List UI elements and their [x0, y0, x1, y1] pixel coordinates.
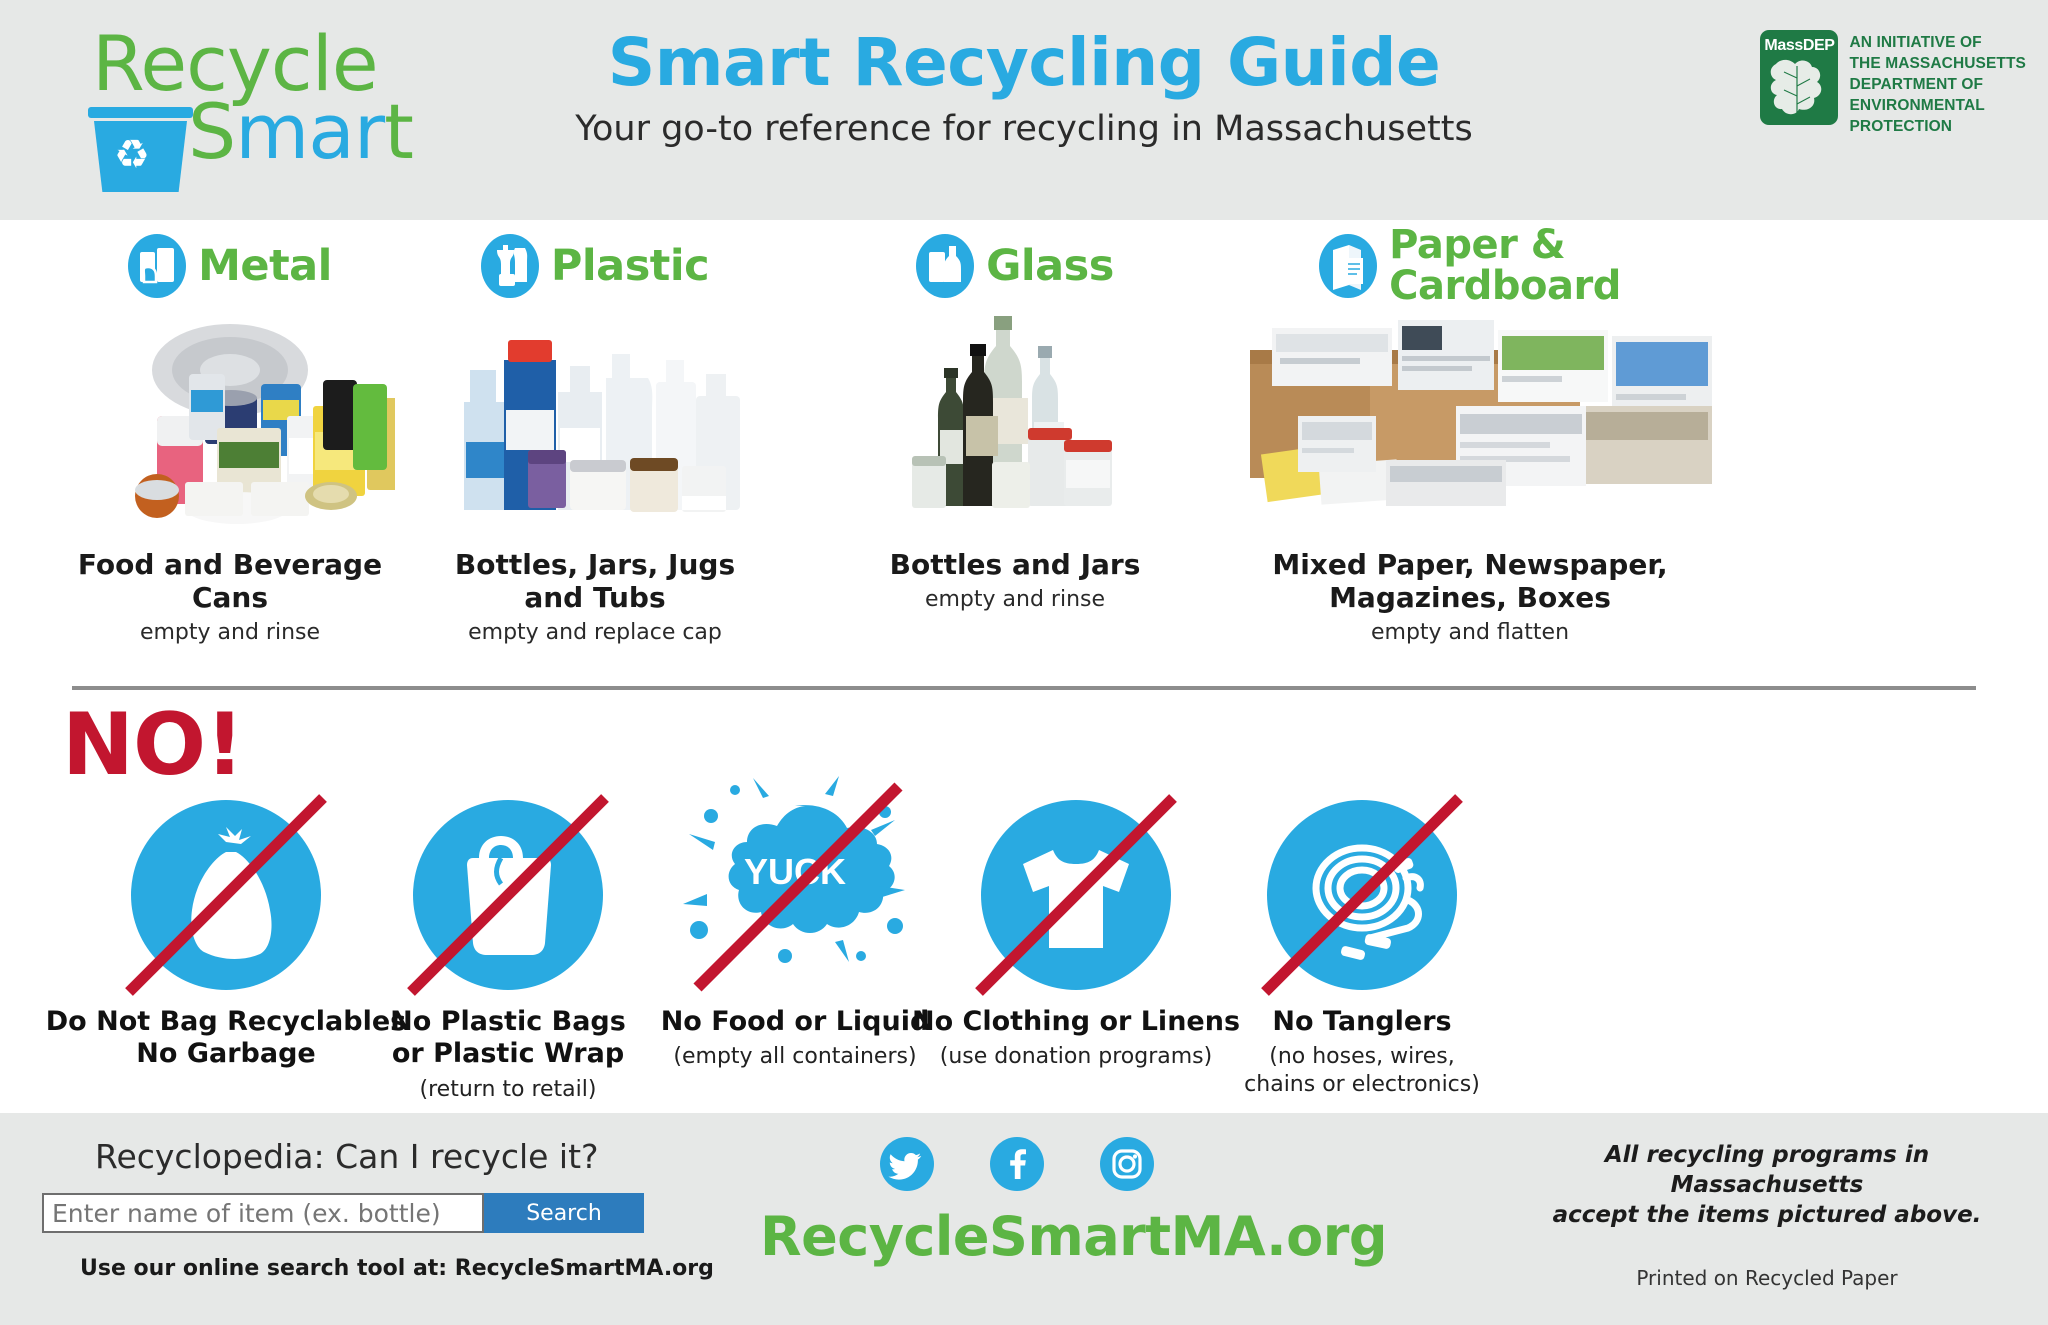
page-subtitle: Your go-to reference for recycling in Ma… — [0, 109, 2048, 149]
no-note-line1: (no hoses, wires, — [1162, 1043, 1562, 1071]
section-divider — [72, 686, 1976, 690]
printed-on-recycled-paper: Printed on Recycled Paper — [1552, 1266, 1982, 1290]
massdep-badge-text: MassDEP — [1760, 37, 1838, 55]
prohibited-items-row: Do Not Bag Recyclables No Garbage No Pla… — [0, 800, 2048, 1100]
category-plastic-note: empty and replace cap — [345, 620, 845, 645]
category-plastic-label: Plastic — [551, 245, 709, 288]
category-paper-note: empty and flatten — [1150, 620, 1790, 645]
category-paper: Paper & Cardboard — [1150, 228, 1790, 645]
plastic-bag-icon — [413, 800, 603, 990]
page-footer: Recyclopedia: Can I recycle it? Search U… — [0, 1113, 2048, 1325]
massdep-line-3: DEPARTMENT OF — [1849, 75, 2026, 96]
no-garbage-bag-icon-wrap — [131, 800, 321, 990]
no-plastic-bag-icon-wrap — [413, 800, 603, 990]
category-paper-label: Paper & Cardboard — [1389, 225, 1621, 307]
category-paper-label-line2: Cardboard — [1389, 266, 1621, 307]
no-title-line1: No Tanglers — [1162, 1006, 1562, 1038]
no-item-tanglers-note: (no hoses, wires, chains or electronics) — [1162, 1043, 1562, 1098]
category-paper-title-line1: Mixed Paper, Newspaper, — [1150, 548, 1790, 581]
coiled-hose-icon — [1267, 800, 1457, 990]
oak-leaf-icon — [1764, 56, 1834, 122]
twitter-icon[interactable] — [880, 1137, 934, 1191]
metal-can-icon — [128, 234, 186, 298]
massdep-line-5: PROTECTION — [1849, 117, 2026, 138]
category-paper-title: Mixed Paper, Newspaper, Magazines, Boxes — [1150, 548, 1790, 614]
category-glass-label: Glass — [986, 245, 1114, 288]
yuck-label: YUCK — [744, 851, 846, 892]
recyclopedia-search: Search — [42, 1193, 644, 1233]
massdep-line-1: AN INITIATIVE OF — [1849, 33, 2026, 54]
search-hint: Use our online search tool at: RecycleSm… — [80, 1256, 714, 1281]
no-item-tanglers: No Tanglers (no hoses, wires, chains or … — [1162, 800, 1562, 1098]
no-item-tanglers-title: No Tanglers — [1162, 1006, 1562, 1038]
category-paper-title-line2: Magazines, Boxes — [1150, 581, 1790, 614]
massdep-line-4: ENVIRONMENTAL — [1849, 96, 2026, 117]
recycling-guide-poster: Recycle ♻ Smart Smart Recycling Guide Yo… — [0, 0, 2048, 1325]
search-input[interactable] — [42, 1193, 484, 1233]
tshirt-icon — [981, 800, 1171, 990]
footer-right-block: All recycling programs in Massachusetts … — [1552, 1141, 1982, 1290]
footer-note: All recycling programs in Massachusetts … — [1552, 1141, 1982, 1231]
paper-carton-icon — [1319, 234, 1377, 298]
garbage-bag-icon — [131, 800, 321, 990]
massdep-text-block: AN INITIATIVE OF THE MASSACHUSETTS DEPAR… — [1849, 30, 2026, 138]
instagram-icon[interactable] — [1100, 1137, 1154, 1191]
paper-cardboard-photo — [1150, 310, 1790, 540]
website-url[interactable]: RecycleSmartMA.org — [760, 1205, 1360, 1268]
page-title: Smart Recycling Guide — [0, 28, 2048, 97]
massdep-badge: MassDEP — [1760, 30, 1838, 125]
accepted-materials-row: Metal — [0, 228, 2048, 678]
social-links — [880, 1137, 1200, 1191]
footer-note-line2: accept the items pictured above. — [1552, 1201, 1982, 1231]
no-clothing-icon-wrap — [981, 800, 1171, 990]
glass-bottle-icon — [916, 234, 974, 298]
category-metal-label: Metal — [198, 245, 332, 288]
no-note-line2: chains or electronics) — [1162, 1071, 1562, 1099]
header-titles: Smart Recycling Guide Your go-to referen… — [0, 28, 2048, 149]
no-heading: NO! — [62, 702, 243, 788]
search-button[interactable]: Search — [484, 1193, 644, 1233]
plastic-bottle-icon — [481, 234, 539, 298]
no-item-plastic-bag-note: (return to retail) — [308, 1076, 708, 1104]
footer-note-line1: All recycling programs in Massachusetts — [1552, 1141, 1982, 1201]
category-paper-label-line1: Paper & — [1389, 225, 1621, 266]
massdep-line-2: THE MASSACHUSETTS — [1849, 54, 2026, 75]
recyclopedia-label: Recyclopedia: Can I recycle it? — [95, 1137, 599, 1176]
massdep-logo: MassDEP AN INITIATIVE OF THE MASSACHUSET… — [1760, 30, 2026, 138]
page-header: Recycle ♻ Smart Smart Recycling Guide Yo… — [0, 0, 2048, 220]
facebook-icon[interactable] — [990, 1137, 1044, 1191]
no-tanglers-icon-wrap — [1267, 800, 1457, 990]
category-paper-header: Paper & Cardboard — [1150, 228, 1790, 304]
